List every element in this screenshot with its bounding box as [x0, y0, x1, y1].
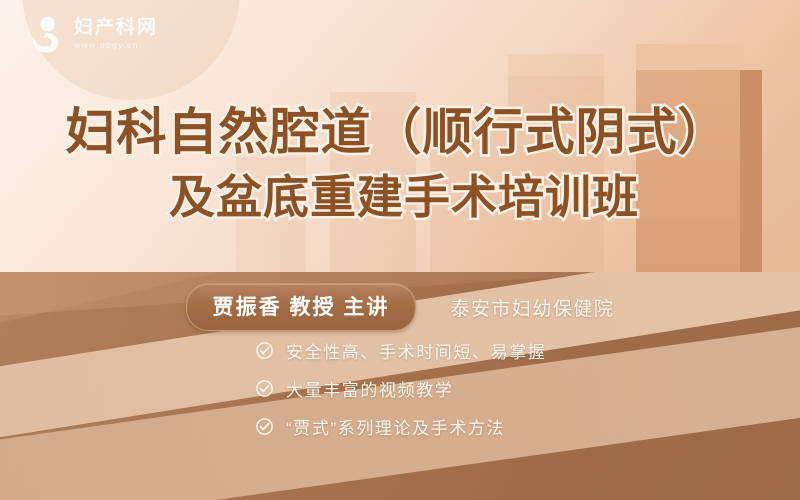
check-circle-icon — [255, 417, 274, 436]
title-line-2: 及盆底重建手术培训班 — [8, 172, 800, 224]
list-item: 安全性高、手术时间短、易掌握 — [255, 338, 546, 363]
title-line-1: 妇科自然腔道（顺行式阴式） — [0, 104, 800, 160]
logo-site-url: www.obgy.cn — [74, 41, 158, 50]
feature-label: “贾式”系列理论及手术方法 — [286, 414, 505, 439]
logo-text: 妇产科网 www.obgy.cn — [74, 18, 158, 50]
speaker-row: 贾振香 教授 主讲 泰安市妇幼保健院 — [0, 283, 800, 331]
logo-site-name: 妇产科网 — [74, 18, 158, 37]
list-item: “贾式”系列理论及手术方法 — [255, 414, 546, 439]
feature-list: 安全性高、手术时间短、易掌握 大量丰富的视频教学 “贾式”系列理论及手术方法 — [255, 338, 546, 439]
list-item: 大量丰富的视频教学 — [255, 376, 546, 401]
check-circle-icon — [255, 379, 274, 398]
course-promo-banner: 妇产科网 www.obgy.cn 妇科自然腔道（顺行式阴式） 及盆底重建手术培训… — [0, 0, 800, 500]
check-circle-icon — [255, 341, 274, 360]
site-logo[interactable]: 妇产科网 www.obgy.cn — [28, 14, 158, 54]
feature-label: 安全性高、手术时间短、易掌握 — [286, 338, 546, 363]
page-title: 妇科自然腔道（顺行式阴式） 及盆底重建手术培训班 — [0, 104, 800, 224]
speaker-badge: 贾振香 教授 主讲 — [186, 283, 417, 331]
feature-label: 大量丰富的视频教学 — [286, 376, 453, 401]
mother-and-baby-icon — [28, 14, 66, 54]
speaker-organization: 泰安市妇幼保健院 — [450, 294, 614, 321]
